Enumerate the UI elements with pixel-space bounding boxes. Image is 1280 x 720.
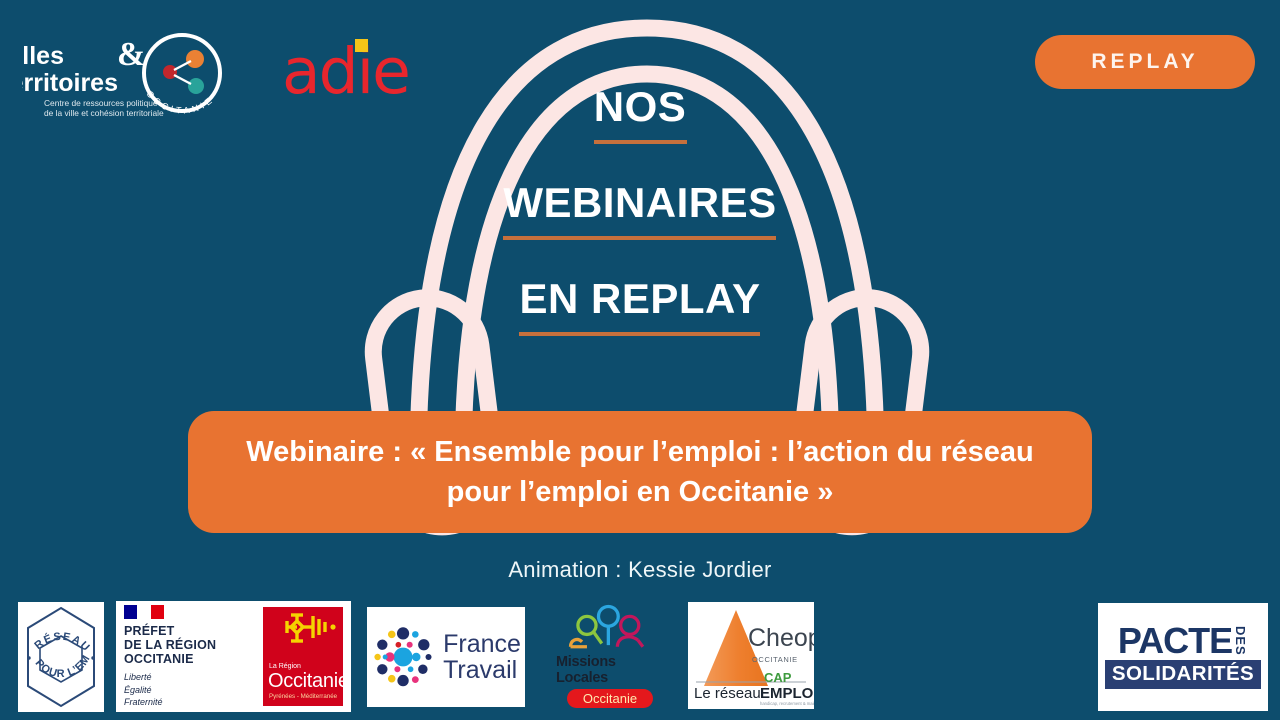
cheops-cap: CAP [764, 670, 792, 685]
title-rule-2 [503, 236, 776, 240]
france-travail-dots-icon [371, 622, 437, 692]
logo-prefet-region-occitanie: PRÉFET DE LA RÉGION OCCITANIE Liberté Ég… [116, 601, 351, 712]
title-line-3: EN REPLAY [519, 278, 760, 320]
title-stack: NOS WEBINAIRES EN REPLAY [0, 86, 1280, 336]
prefet-text-block: PRÉFET DE LA RÉGION OCCITANIE Liberté Ég… [124, 605, 216, 708]
title-line-1-wrap: NOS [594, 86, 687, 144]
vt-line1: Villes [22, 42, 64, 70]
title-line-2-wrap: WEBINAIRES [503, 182, 776, 240]
logo-france-travail: France Travail [367, 607, 525, 707]
region-occitanie-logo: La Région Occitanie Pyrénées - Méditerra… [263, 607, 343, 706]
logo-reseau-pour-lemploi: RÉSEAU POUR L’EMPLOI [18, 602, 104, 712]
cheops-pyramid-icon: Cheops OCCITANIE Le réseau EMPLOI CAP ha… [688, 602, 814, 709]
missions-locales-name: Missions Locales [556, 654, 664, 686]
cheops-emploi: EMPLOI [760, 685, 814, 702]
reseau-ring-top: RÉSEAU [32, 631, 92, 655]
prefet-name-line-1: PRÉFET [124, 624, 216, 638]
webinar-title-banner[interactable]: Webinaire : « Ensemble pour l’emploi : l… [188, 411, 1092, 533]
replay-badge[interactable]: REPLAY [1035, 35, 1255, 89]
title-line-3-wrap: EN REPLAY [519, 278, 760, 336]
title-line-2: WEBINAIRES [503, 182, 776, 224]
slide-canvas: Villes & Territoires Centre de ressource… [0, 0, 1280, 720]
prefet-motto-1: Liberté [124, 671, 216, 683]
animation-credit: Animation : Kessie Jordier [0, 557, 1280, 583]
occitan-cross-icon [263, 607, 343, 663]
reseau-emblem-icon: RÉSEAU POUR L’EMPLOI [18, 602, 104, 712]
title-rule-3 [519, 332, 760, 336]
region-small-label: La Région [269, 663, 301, 670]
prefet-name-line-3: OCCITANIE [124, 652, 216, 666]
prefet-motto-2: Égalité [124, 684, 216, 696]
vt-ampersand: & [117, 36, 145, 73]
logo-pacte-des-solidarites: PACTE DES SOLIDARITÉS [1098, 603, 1268, 711]
missions-locales-figures-icon [558, 604, 662, 655]
french-flag-icon [124, 605, 164, 619]
cheops-network: Le réseau [694, 685, 761, 702]
logo-missions-locales: Missions Locales Occitanie [556, 604, 664, 708]
missions-locales-region-badge: Occitanie [567, 689, 653, 708]
pacte-word-1: PACTE [1118, 625, 1232, 657]
france-travail-wordmark: France Travail [443, 631, 521, 683]
region-sub-label: Pyrénées - Méditerranée [269, 693, 337, 700]
france-travail-line-1: France [443, 631, 521, 657]
partner-logo-strip: RÉSEAU POUR L’EMPLOI PRÉFET DE LA RÉGION… [0, 598, 1280, 720]
title-line-1: NOS [594, 86, 687, 128]
prefet-motto-3: Fraternité [124, 696, 216, 708]
adie-dot-icon [355, 39, 368, 52]
pacte-word-3: SOLIDARITÉS [1105, 660, 1261, 689]
cheops-name: Cheops [748, 624, 814, 652]
prefet-name-line-2: DE LA RÉGION [124, 638, 216, 652]
cheops-region: OCCITANIE [752, 655, 798, 664]
logo-cheops-occitanie: Cheops OCCITANIE Le réseau EMPLOI CAP ha… [688, 602, 814, 709]
pacte-word-2: DES [1233, 626, 1248, 656]
pacte-top-row: PACTE DES [1118, 625, 1248, 657]
region-name-label: Occitanie [268, 670, 349, 693]
svg-text:RÉSEAU: RÉSEAU [32, 631, 92, 655]
replay-badge-label: REPLAY [1091, 50, 1198, 74]
webinar-title-text: Webinaire : « Ensemble pour l’emploi : l… [214, 432, 1066, 512]
france-travail-line-2: Travail [443, 657, 521, 683]
cheops-sub: handicap, recrutement & maintien [760, 701, 814, 706]
title-rule-1 [594, 140, 687, 144]
